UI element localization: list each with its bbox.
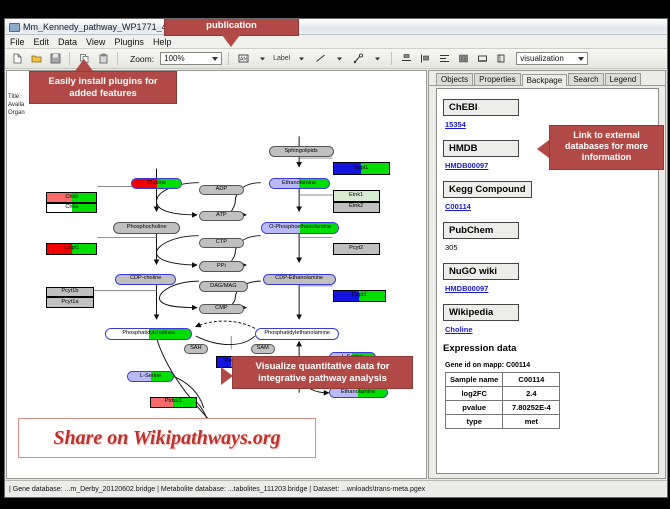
tab-backpage[interactable]: Backpage (522, 74, 568, 86)
pathway-node-chpt1[interactable]: Chpt1 (46, 243, 97, 254)
backpage-db-link[interactable]: HMDB00097 (445, 284, 652, 293)
pathway-node-etnk2[interactable]: Etnk2 (333, 202, 380, 213)
tab-legend[interactable]: Legend (605, 73, 642, 85)
callout-plugins: Easily install plugins for added feature… (29, 71, 177, 104)
pathway-node-label: CMP (215, 306, 227, 312)
pathway-node-label: Pcyt2 (349, 246, 363, 252)
pathway-node-label: PPi (217, 264, 226, 270)
backpage-db-header: PubChem (443, 222, 519, 239)
info-label-title: Title: (8, 93, 25, 101)
pathway-node-label: Phosphocholine (127, 225, 167, 231)
callout-visualize: Visualize quantitative data for integrat… (232, 356, 413, 389)
menu-item-data[interactable]: Data (58, 37, 77, 47)
pathway-node-phosphatidylcholines[interactable]: Phosphatidylcholines (105, 328, 192, 339)
label-box-icon[interactable]: AN (235, 51, 251, 67)
pathway-node-cdp-choline[interactable]: CDP-choline (115, 274, 176, 285)
expression-data-heading: Expression data (443, 343, 652, 354)
pathway-node-label: Ptdss1 (165, 399, 182, 405)
menu-bar: File Edit Data View Plugins Help (5, 35, 667, 49)
pathway-node-ctp[interactable]: CTP (199, 238, 244, 248)
chevron-down-icon[interactable] (293, 51, 309, 67)
menu-item-edit[interactable]: Edit (34, 37, 50, 47)
pathway-node-label: Phosphatidylethanolamine (264, 331, 330, 337)
pathway-node-choline-top[interactable]: Choline (131, 178, 182, 189)
align-center-icon[interactable] (398, 51, 414, 67)
callout-plugins-arrow-icon (75, 59, 93, 71)
group-icon[interactable] (474, 51, 490, 67)
pathway-node-adp[interactable]: ADP (199, 185, 244, 195)
pathway-node-dagmag[interactable]: DAG/MAG (199, 281, 248, 291)
pathway-node-cept1[interactable]: Cept1 (333, 290, 386, 302)
callout-draw: Draw for presentation & publication (164, 18, 299, 36)
table-cell-key: type (446, 415, 503, 429)
callout-links: Link to external databases for more info… (549, 125, 664, 170)
pathway-node-label: Etnk1 (349, 193, 363, 199)
table-cell-value: 2.4 (503, 387, 560, 401)
visualization-value: visualization (520, 54, 564, 63)
pathway-node-pcyt1b[interactable]: Pcyt1b (46, 287, 93, 297)
pathway-node-atp[interactable]: ATP (199, 211, 244, 221)
pathway-node-label: Pcyt1b (61, 289, 78, 295)
backpage-db-value: 305 (445, 243, 652, 252)
pathway-node-chka[interactable]: Chka (46, 203, 97, 213)
pathway-node-label: O-Phosphoethanolamine (269, 225, 331, 231)
pathway-node-pcyt2[interactable]: Pcyt2 (333, 243, 380, 254)
pathway-node-label: DAG/MAG (210, 284, 236, 290)
callout-links-arrow-icon (537, 140, 549, 158)
pathway-node-sgpl1[interactable]: Sgpl1 (333, 162, 390, 175)
pathway-node-cmp[interactable]: CMP (199, 304, 244, 314)
backpage-db-header: NuGO wiki (443, 263, 519, 280)
pathway-node-label: SAH (190, 346, 202, 352)
backpage-db-header: Wikipedia (443, 304, 519, 321)
pathway-node-label: Chka (65, 205, 78, 211)
menu-item-view[interactable]: View (86, 37, 105, 47)
backpage-db-header: ChEBI (443, 99, 519, 116)
status-bar: | Gene database: ...m_Derby_20120602.bri… (5, 480, 667, 497)
menu-item-help[interactable]: Help (153, 37, 172, 47)
chevron-down-icon[interactable] (369, 51, 385, 67)
tab-search[interactable]: Search (568, 73, 603, 85)
chevron-down-icon[interactable] (254, 51, 270, 67)
pathway-node-o-phosphoethanolamine[interactable]: O-Phosphoethanolamine (261, 222, 340, 233)
pathway-node-label: Etnk2 (349, 204, 363, 210)
pathway-node-ptdss1[interactable]: Ptdss1 (150, 397, 197, 408)
chevron-down-icon (212, 57, 218, 61)
order-icon[interactable] (493, 51, 509, 67)
pathway-node-label: Sgpl1 (354, 166, 368, 172)
zoom-value: 100% (164, 54, 184, 63)
paste-icon[interactable] (95, 51, 111, 67)
share-banner: Share on Wikipathways.org (18, 418, 316, 458)
pathway-node-label: L-Serine (140, 374, 161, 380)
pathway-node-label: Chpt1 (64, 246, 79, 252)
table-cell-value: 7.80252E-4 (503, 401, 560, 415)
table-row: typemet (446, 415, 560, 429)
pathway-node-l-serine-left[interactable]: L-Serine (127, 371, 174, 382)
pathvisio-icon (8, 21, 19, 32)
table-row: log2FC2.4 (446, 387, 560, 401)
pathway-node-sah[interactable]: SAH (184, 344, 208, 354)
table-cell-key: log2FC (446, 387, 503, 401)
pathway-node-label: CDP-choline (130, 276, 161, 282)
pathway-node-chkb[interactable]: Chkb (46, 192, 97, 202)
line-icon[interactable] (312, 51, 328, 67)
new-file-icon[interactable] (9, 51, 25, 67)
toolbar-separator (117, 52, 118, 65)
zoom-combobox[interactable]: 100% (160, 52, 222, 65)
label-tool-label[interactable]: Label (273, 55, 290, 62)
pathway-node-pcyt1a[interactable]: Pcyt1a (46, 297, 93, 307)
open-folder-icon[interactable] (28, 51, 44, 67)
zoom-label: Zoom: (130, 54, 154, 64)
callout-draw-arrow-icon (222, 35, 240, 47)
pathway-node-label: ATP (216, 213, 226, 219)
backpage-db-header: HMDB (443, 140, 519, 157)
gene-id-line: Gene id on mapp: C00114 (445, 362, 652, 369)
distribute-icon[interactable] (436, 51, 452, 67)
save-icon[interactable] (47, 51, 63, 67)
backpage-db-header: Kegg Compound (443, 181, 532, 198)
align-left-icon[interactable] (417, 51, 433, 67)
chevron-down-icon[interactable] (331, 51, 347, 67)
side-panel-tabs: Objects Properties Backpage Search Legen… (429, 71, 665, 86)
pathway-edges (7, 71, 426, 478)
canvas-info-labels: Title: Availa Organ (8, 93, 25, 117)
pathway-node-label: Choline (147, 181, 166, 187)
info-label-organism: Organ (8, 109, 25, 117)
expression-data-table: Sample nameC00114log2FC2.4pvalue7.80252E… (445, 372, 560, 429)
pathway-node-label: SAM (257, 346, 269, 352)
table-row: Sample nameC00114 (446, 373, 560, 387)
share-banner-text: Share on Wikipathways.org (53, 427, 280, 450)
table-cell-key: Sample name (446, 373, 503, 387)
stack-columns-icon[interactable] (455, 51, 471, 67)
pathway-node-sphingolipids[interactable]: Sphingolipids (269, 146, 334, 157)
svg-text:AN: AN (240, 57, 247, 63)
tab-properties[interactable]: Properties (474, 73, 520, 85)
tab-objects[interactable]: Objects (436, 73, 473, 85)
main-toolbar: Zoom: 100% AN Label visualiz (5, 49, 667, 69)
pathway-node-label: Ethanolamine (341, 390, 375, 396)
toolbar-separator (228, 52, 229, 65)
table-cell-key: pvalue (446, 401, 503, 415)
pathway-node-label: Pcyt1a (61, 300, 78, 306)
pathway-node-etnk1[interactable]: Etnk1 (333, 190, 380, 201)
callout-visualize-arrow-icon (221, 367, 233, 385)
pathway-node-phosphocholine[interactable]: Phosphocholine (113, 222, 180, 233)
toolbar-separator (391, 52, 392, 65)
window-titlebar: Mm_Kennedy_pathway_WP1771_45176.gp (5, 19, 667, 35)
chevron-down-icon (578, 57, 584, 61)
toolbar-separator (69, 52, 70, 65)
pathway-node-cdp-ethanolamine[interactable]: CDP-Ethanolamine (263, 274, 336, 285)
table-cell-value: C00114 (503, 373, 560, 387)
pathway-node-ethanolamine-top[interactable]: Ethanolamine (269, 178, 330, 189)
visualization-combobox[interactable]: visualization (516, 52, 588, 65)
status-bar-text: | Gene database: ...m_Derby_20120602.bri… (5, 486, 425, 493)
pathway-node-label: Chkb (65, 195, 78, 201)
pathway-node-phosphatidylethanolamine[interactable]: Phosphatidylethanolamine (255, 328, 340, 339)
table-row: pvalue7.80252E-4 (446, 401, 560, 415)
pathway-node-label: Sphingolipids (284, 149, 317, 155)
pathway-node-label: CDP-Ethanolamine (275, 276, 323, 282)
backpage-db-link[interactable]: Choline (445, 325, 652, 334)
info-label-availability: Availa (8, 101, 25, 109)
table-cell-value: met (503, 415, 560, 429)
pathway-node-label: Cept1 (352, 293, 367, 299)
backpage-db-link[interactable]: C00114 (445, 202, 652, 211)
pathway-node-sam[interactable]: SAM (251, 344, 275, 354)
menu-item-file[interactable]: File (10, 37, 25, 47)
screenshot-root: Mm_Kennedy_pathway_WP1771_45176.gp File … (0, 0, 670, 509)
pathway-node-label: Phosphatidylcholines (122, 331, 175, 337)
receptor-icon[interactable] (350, 51, 366, 67)
pathway-node-label: Ethanolamine (282, 181, 316, 187)
pathway-node-label: CTP (216, 240, 227, 246)
pathway-node-label: ADP (216, 187, 228, 193)
pathway-node-ppi[interactable]: PPi (199, 261, 244, 271)
menu-item-plugins[interactable]: Plugins (114, 37, 144, 47)
